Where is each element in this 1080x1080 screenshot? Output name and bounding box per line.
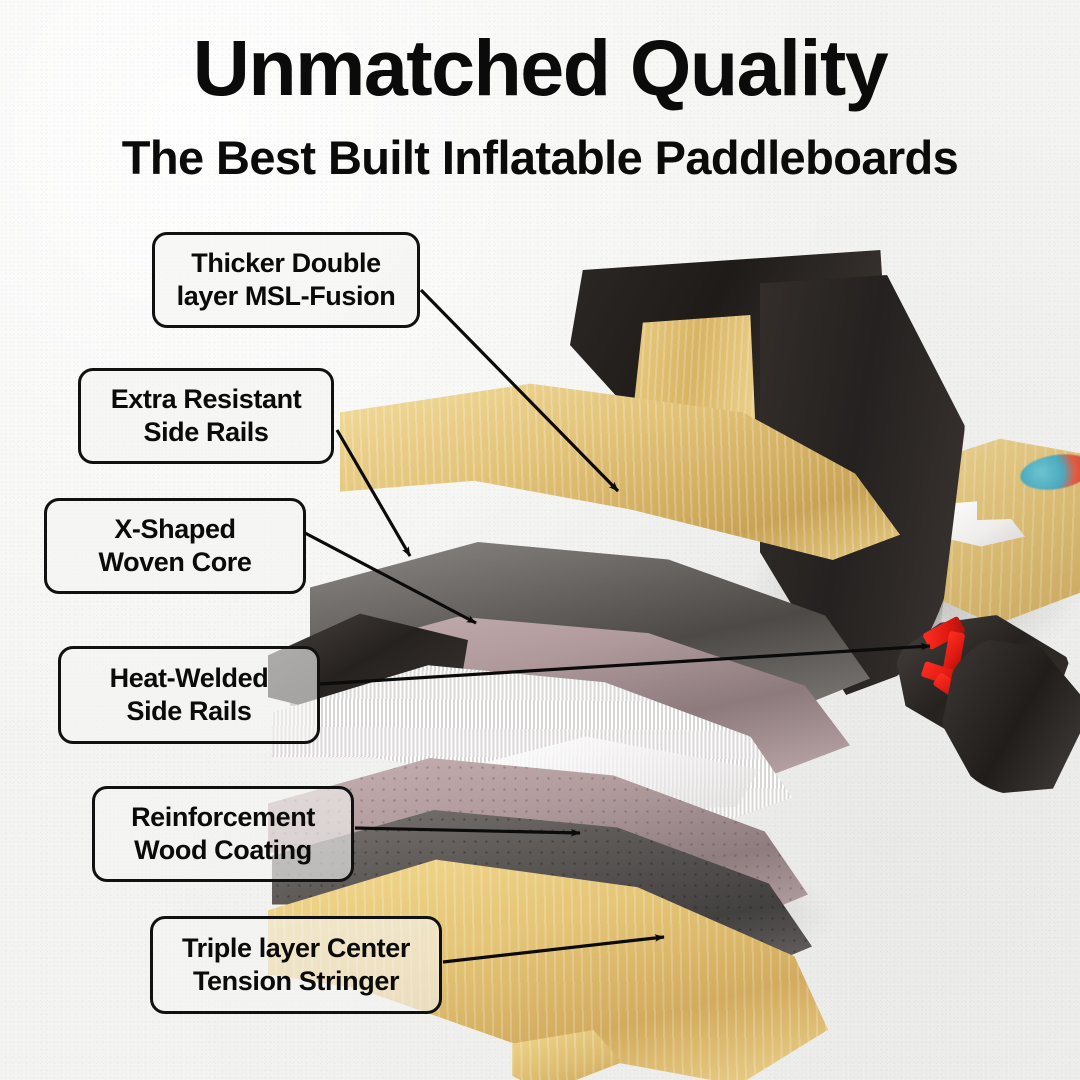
infographic-canvas: Unmatched Quality The Best Built Inflata… bbox=[0, 0, 1080, 1080]
callout-line-1: X-Shaped bbox=[114, 513, 235, 546]
callout-line-1: Thicker Double bbox=[191, 247, 380, 280]
callout-line-1: Heat-Welded bbox=[110, 662, 269, 695]
exploded-paddleboard-illustration bbox=[330, 215, 1080, 1015]
callout-line-2: layer MSL-Fusion bbox=[177, 280, 396, 313]
callout-line-1: Triple layer Center bbox=[182, 932, 410, 965]
callout-line-2: Wood Coating bbox=[134, 834, 312, 867]
callout-line-2: Side Rails bbox=[126, 695, 251, 728]
callout-msl-fusion[interactable]: Thicker Double layer MSL-Fusion bbox=[152, 232, 420, 328]
callout-line-1: Extra Resistant bbox=[111, 383, 302, 416]
page-title: Unmatched Quality bbox=[0, 28, 1080, 109]
callout-line-2: Side Rails bbox=[143, 416, 268, 449]
callout-side-rails[interactable]: Extra Resistant Side Rails bbox=[78, 368, 334, 464]
page-subtitle: The Best Built Inflatable Paddleboards bbox=[0, 133, 1080, 182]
callout-line-1: Reinforcement bbox=[131, 801, 315, 834]
callout-woven-core[interactable]: X-Shaped Woven Core bbox=[44, 498, 306, 594]
callout-line-2: Tension Stringer bbox=[193, 965, 399, 998]
callout-line-2: Woven Core bbox=[98, 546, 251, 579]
callout-wood-coating[interactable]: Reinforcement Wood Coating bbox=[92, 786, 354, 882]
callout-tension-stringer[interactable]: Triple layer Center Tension Stringer bbox=[150, 916, 442, 1014]
callout-heat-welded[interactable]: Heat-Welded Side Rails bbox=[58, 646, 320, 744]
